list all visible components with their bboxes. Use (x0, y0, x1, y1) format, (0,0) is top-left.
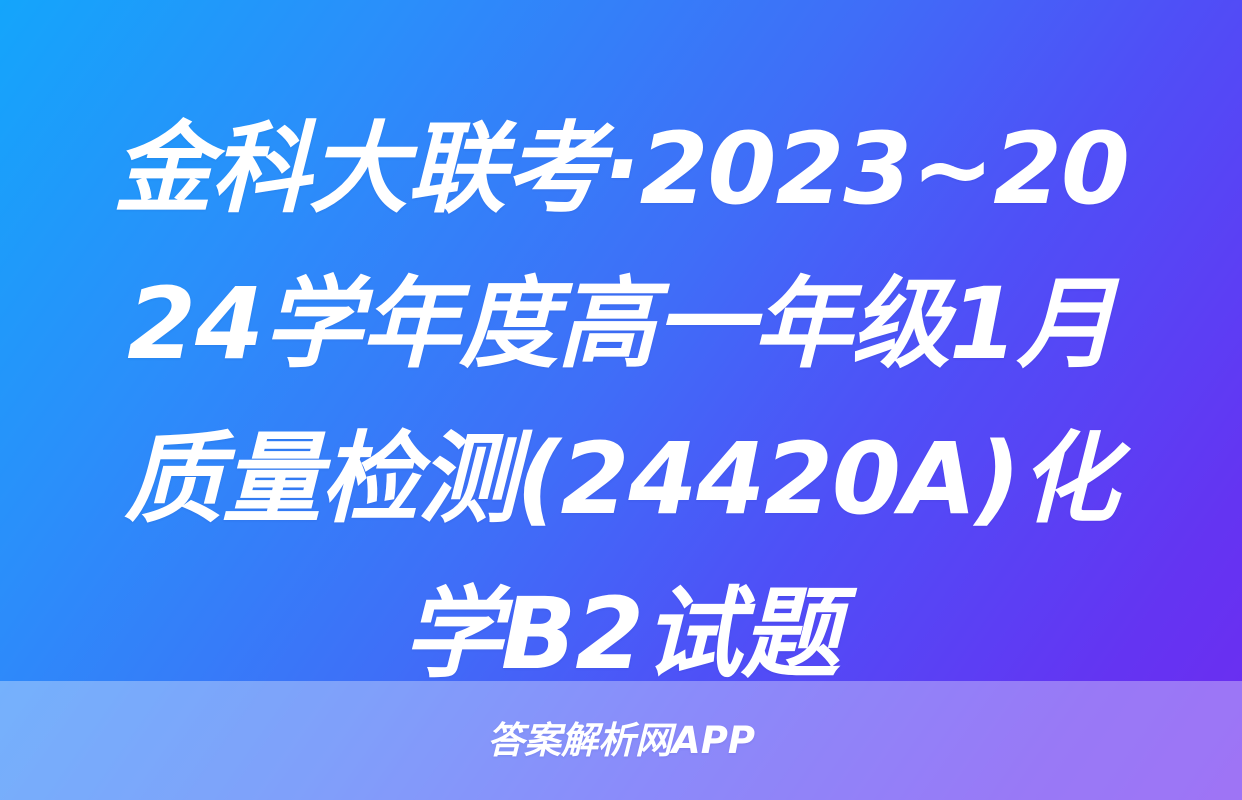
exam-cover-card: 金科大联考·2023~2024学年度高一年级1月质量检测(24420A)化学B2… (0, 0, 1242, 800)
watermark-label: 答案解析网APP (487, 722, 755, 759)
title-block: 金科大联考·2023~2024学年度高一年级1月质量检测(24420A)化学B2… (0, 0, 1242, 690)
watermark-band: 答案解析网APP (0, 681, 1242, 800)
page-title: 金科大联考·2023~2024学年度高一年级1月质量检测(24420A)化学B2… (84, 92, 1158, 712)
